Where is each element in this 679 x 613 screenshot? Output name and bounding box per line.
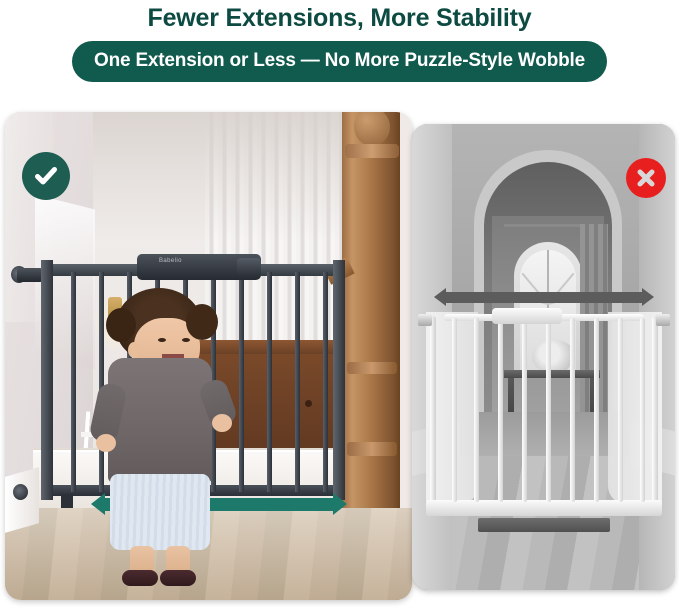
toddler (100, 288, 220, 578)
subtitle-badge-wrap: One Extension or Less — No More Puzzle-S… (0, 41, 679, 82)
gate-bar (474, 318, 479, 502)
child-eye (182, 338, 190, 342)
gate-bar (267, 272, 272, 492)
mounting-bolt-icon (13, 484, 28, 500)
gate-bar (239, 272, 244, 492)
gate-bar (71, 272, 76, 492)
gate-post-left (41, 260, 53, 500)
gate-latch-knob (237, 258, 261, 277)
child-hand-left (96, 434, 116, 452)
gate-bar (295, 272, 300, 492)
child-eye (158, 338, 166, 342)
gate-hinge (17, 268, 43, 282)
comparison-panels: Babelio (0, 112, 679, 604)
gate-frame-right (652, 316, 658, 504)
subtitle-badge: One Extension or Less — No More Puzzle-S… (72, 41, 607, 82)
child-sandal (160, 570, 196, 586)
child-hand-right (212, 414, 232, 432)
arrow-head-right-icon (642, 288, 654, 306)
gate-post-right (333, 260, 345, 500)
child-hair-curl (106, 308, 136, 342)
gate-bar (498, 318, 503, 502)
check-icon (32, 162, 60, 190)
child-hair-curl (186, 304, 218, 340)
child-sandal (122, 570, 158, 586)
good-verdict-badge (22, 152, 70, 200)
gate-bar (546, 318, 551, 502)
gate-bottom-rail (426, 500, 662, 516)
mounting-bolt-icon (656, 314, 670, 326)
gate-foot (61, 494, 73, 508)
mounting-bolt-icon (418, 314, 432, 326)
header-block: Fewer Extensions, More Stability One Ext… (0, 0, 679, 82)
newel-ring (345, 144, 399, 158)
baseboard (5, 467, 39, 533)
gate-bar (452, 318, 457, 502)
child-shorts (110, 474, 210, 550)
door-threshold (478, 518, 610, 532)
gate-bar (570, 318, 575, 502)
gate-frame-left (430, 316, 436, 504)
width-measure-arrow-bad (434, 288, 654, 306)
gate-bar (618, 318, 623, 502)
gate-brand-label: Babelio (159, 258, 182, 264)
newel-ring (347, 362, 397, 374)
newel-ring (347, 442, 397, 456)
bad-verdict-badge (626, 158, 666, 198)
child-shirt (108, 358, 212, 483)
arrow-shaft (444, 292, 644, 303)
arrow-head-right-icon (333, 493, 347, 515)
white-safety-gate (426, 304, 662, 516)
x-icon (634, 166, 658, 190)
gate-bar (522, 318, 527, 502)
page-title: Fewer Extensions, More Stability (0, 3, 679, 34)
gate-bar (323, 272, 328, 492)
child-ear (128, 342, 140, 358)
gate-latch-housing (492, 308, 562, 324)
gate-bar (640, 318, 645, 502)
gate-bar (594, 318, 599, 502)
